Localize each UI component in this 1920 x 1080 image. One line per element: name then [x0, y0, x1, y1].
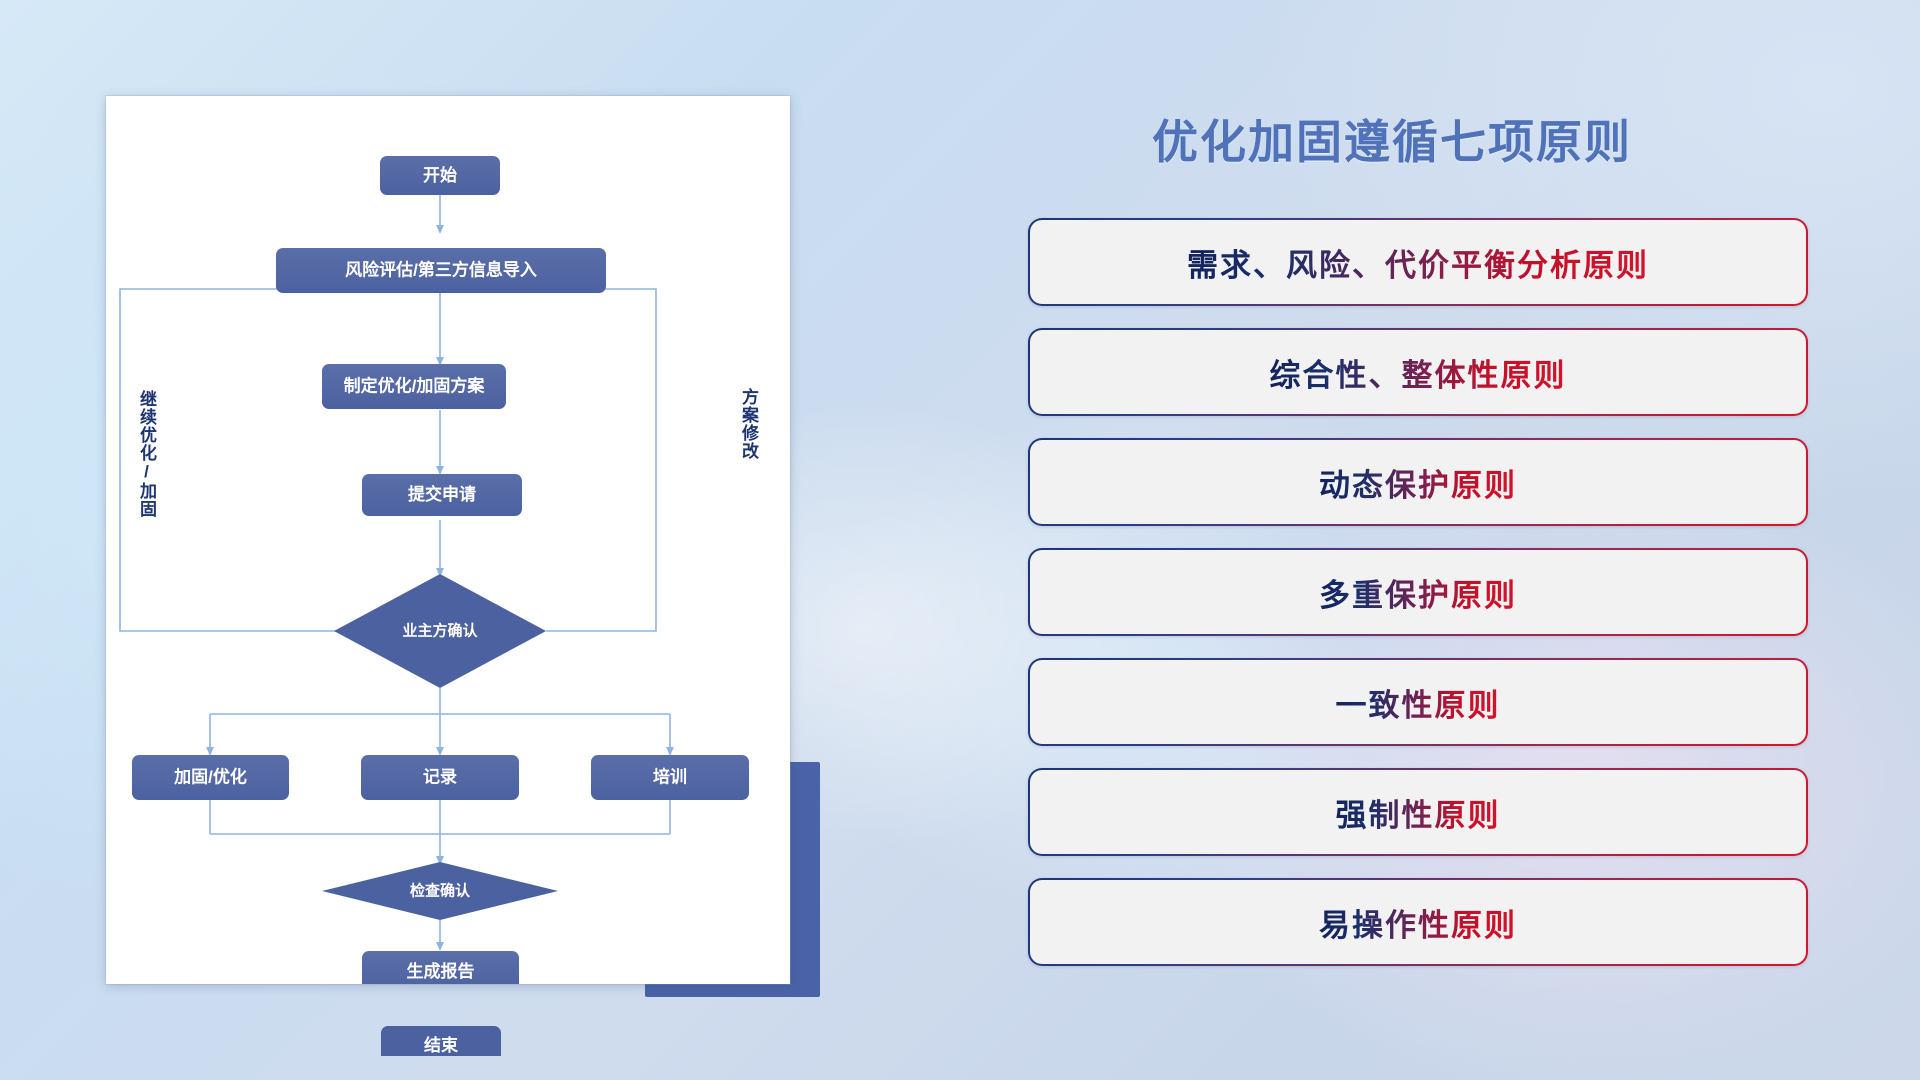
principles-panel: 优化加固遵循七项原则 需求、风险、代价平衡分析原则 综合性、整体性原则 动态保护…	[1022, 106, 1822, 986]
principle-card-inner: 多重保护原则	[1030, 550, 1806, 634]
principle-card-2[interactable]: 综合性、整体性原则	[1028, 328, 1808, 416]
flowchart-end-layer: 结束	[106, 96, 790, 1056]
principle-label: 动态保护原则	[1319, 460, 1517, 505]
principle-card-inner: 一致性原则	[1030, 660, 1806, 744]
principle-card-inner: 强制性原则	[1030, 770, 1806, 854]
edge-label-continue-optimize: 继续优化/加固	[138, 390, 155, 518]
edge-label-plan-revision: 方案修改	[740, 388, 757, 460]
principle-card-3[interactable]: 动态保护原则	[1028, 438, 1808, 526]
principle-label: 需求、风险、代价平衡分析原则	[1187, 240, 1649, 285]
principle-card-inner: 易操作性原则	[1030, 880, 1806, 964]
principle-card-inner: 动态保护原则	[1030, 440, 1806, 524]
principle-label: 强制性原则	[1336, 790, 1501, 835]
principle-label: 一致性原则	[1336, 680, 1501, 725]
principle-card-4[interactable]: 多重保护原则	[1028, 548, 1808, 636]
principle-card-inner: 综合性、整体性原则	[1030, 330, 1806, 414]
panel-title: 优化加固遵循七项原则	[1152, 106, 1822, 172]
principle-label: 多重保护原则	[1319, 570, 1517, 615]
principle-card-6[interactable]: 强制性原则	[1028, 768, 1808, 856]
principle-card-inner: 需求、风险、代价平衡分析原则	[1030, 220, 1806, 304]
flow-node-label: 结束	[424, 1035, 458, 1055]
principle-card-1[interactable]: 需求、风险、代价平衡分析原则	[1028, 218, 1808, 306]
principle-card-5[interactable]: 一致性原则	[1028, 658, 1808, 746]
flow-node-end[interactable]: 结束	[381, 1026, 501, 1056]
principle-card-7[interactable]: 易操作性原则	[1028, 878, 1808, 966]
principle-label: 综合性、整体性原则	[1270, 350, 1567, 395]
principle-label: 易操作性原则	[1319, 900, 1517, 945]
